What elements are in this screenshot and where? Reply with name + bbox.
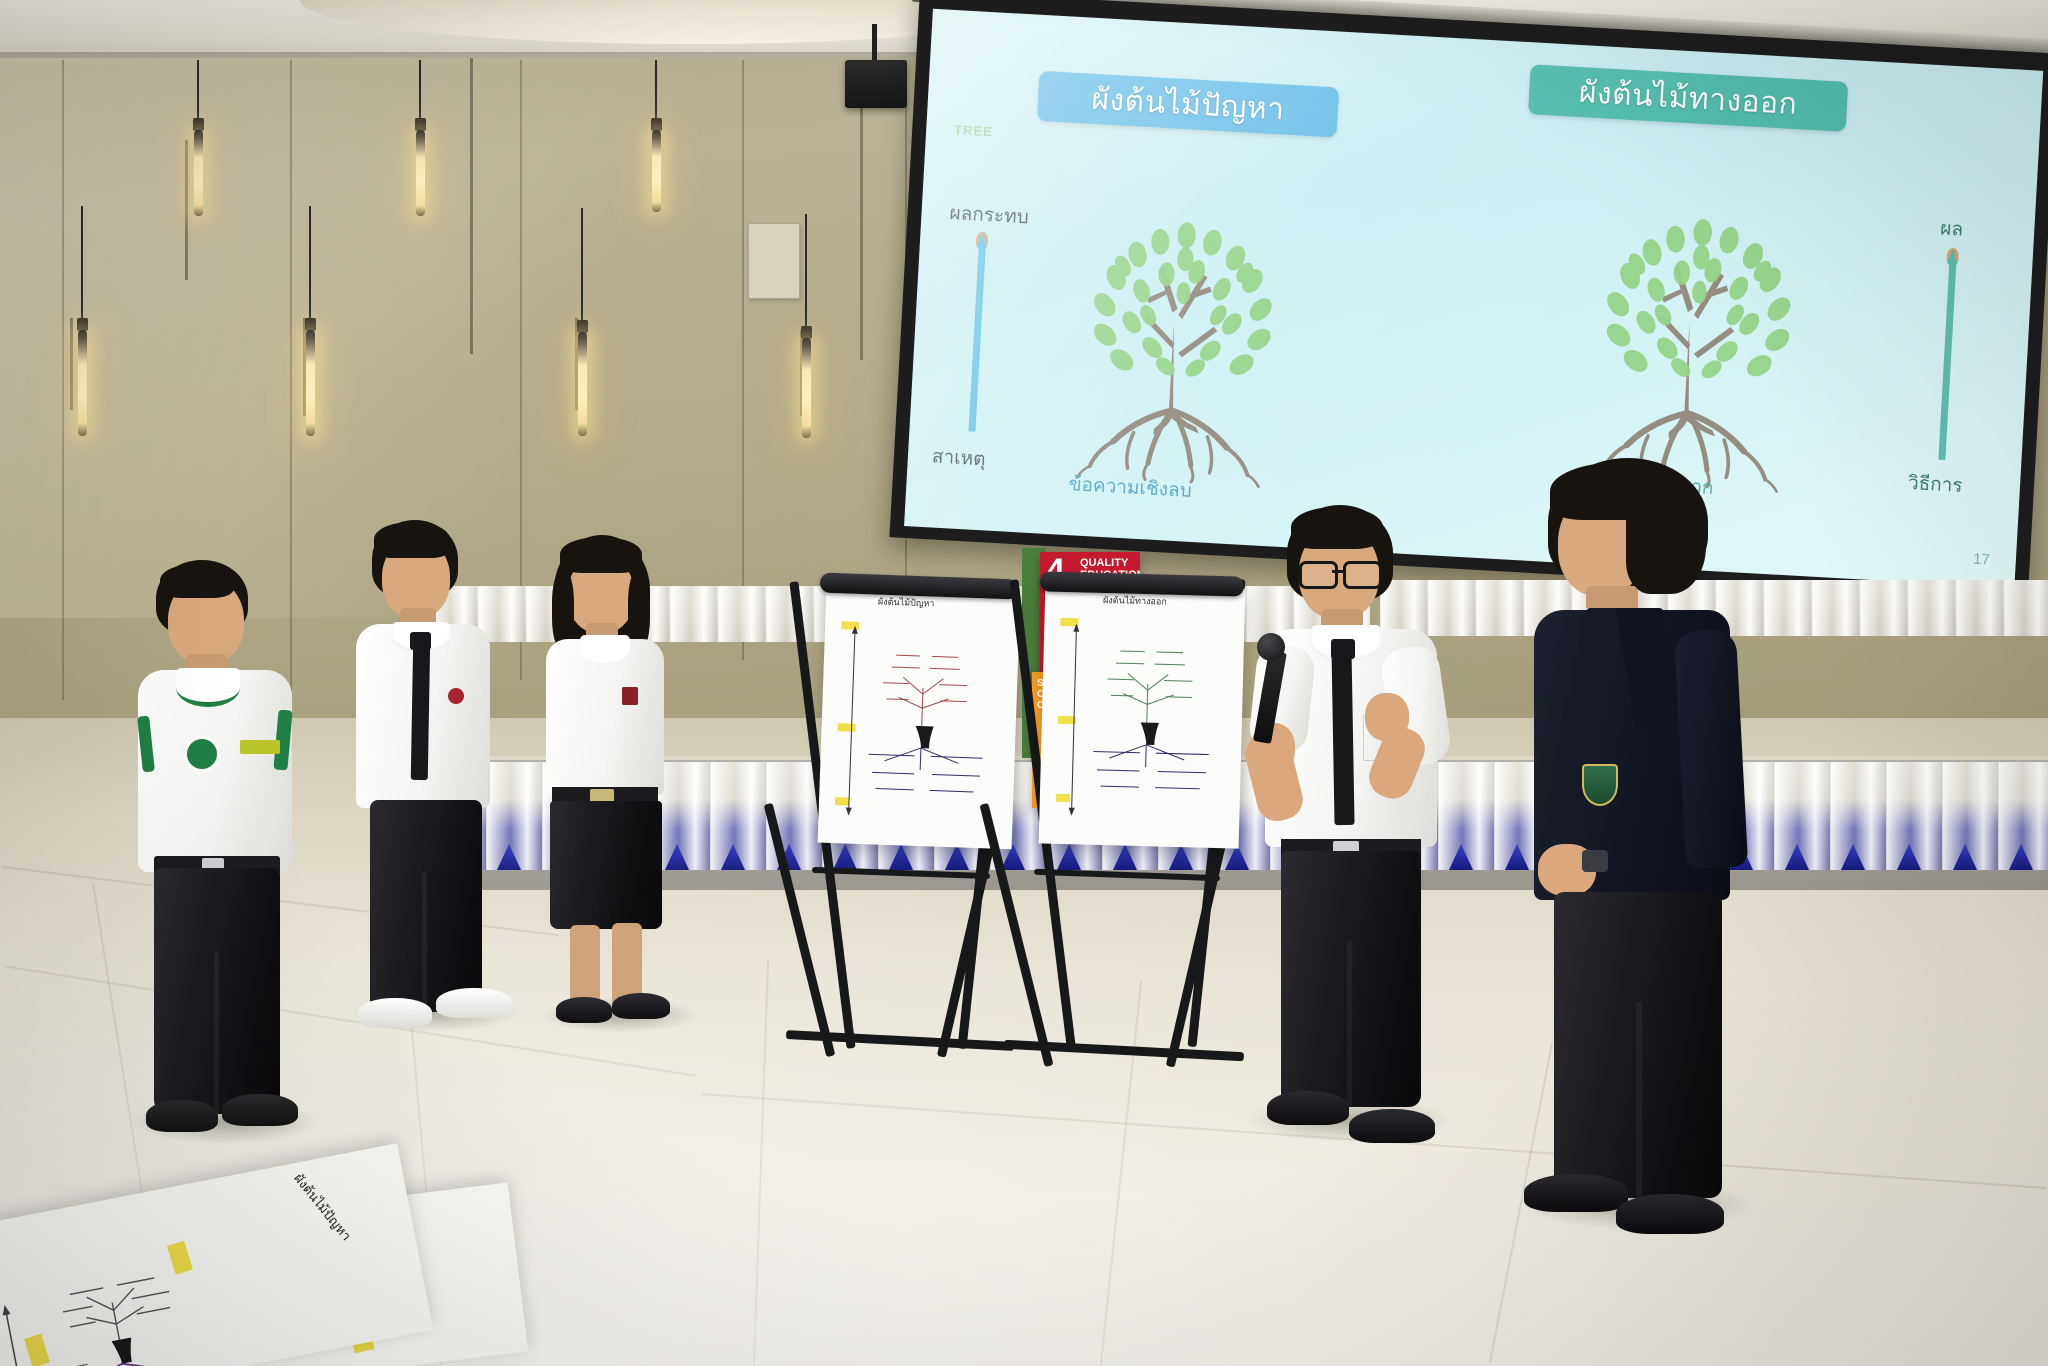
hair-back <box>1626 486 1706 594</box>
projector-screen: TREE ผังต้นไม้ปัญหา ผลกระทบ สาเหตุ <box>889 0 2048 613</box>
ceiling-speaker <box>845 60 907 108</box>
tie-knot <box>1331 639 1355 659</box>
wall-seam <box>290 60 292 700</box>
speaker-mount <box>872 24 877 64</box>
trouser-split <box>1347 941 1352 1107</box>
shirt-badge <box>448 688 464 704</box>
microphone-head <box>1257 633 1285 661</box>
polo-collar <box>176 668 240 707</box>
trouser-split <box>1636 1002 1642 1198</box>
method-axis-label: วิธีการ <box>1907 468 1963 501</box>
wall-groove <box>185 140 188 280</box>
shoe <box>1524 1174 1628 1212</box>
hand-right <box>1365 693 1409 741</box>
school-crest <box>1582 764 1618 806</box>
wall-seam <box>742 60 744 660</box>
screen-canvas: TREE ผังต้นไม้ปัญหา ผลกระทบ สาเหตุ <box>904 9 2043 588</box>
negative-statement-caption: ข้อความเชิงลบ <box>1068 469 1193 506</box>
photo-scene: TREE ผังต้นไม้ปัญหา ผลกระทบ สาเหตุ <box>0 0 2048 1366</box>
problem-tree-illustration <box>1027 145 1335 491</box>
shoe <box>612 993 670 1019</box>
hair-side-right <box>628 571 650 649</box>
wall-notice-card <box>748 223 800 299</box>
flipchart-right-title: ผังต้นไม้ทางออก <box>1103 593 1167 609</box>
shoe <box>556 997 612 1023</box>
shoe <box>1349 1109 1435 1143</box>
sneaker <box>436 988 512 1018</box>
slide-page-number: 17 <box>1973 551 1991 569</box>
slide-brand-mark: TREE <box>954 122 993 139</box>
wall-seam <box>62 60 64 700</box>
hair-fringe <box>374 522 450 558</box>
trouser-split <box>214 952 219 1114</box>
result-arrow-icon <box>1935 248 1960 460</box>
shoe <box>222 1094 298 1126</box>
hair-fringe <box>160 564 234 598</box>
shoe <box>1616 1194 1724 1234</box>
solution-tree-illustration <box>1538 140 1857 496</box>
blouse-badge <box>622 687 638 705</box>
skirt <box>550 801 662 929</box>
flipchart-right-sheet: ผังต้นไม้ทางออก <box>1039 583 1246 848</box>
flipchart-left-title: ผังต้นไม้ปัญหา <box>878 595 935 611</box>
blouse-collar <box>580 635 630 663</box>
shoe <box>146 1100 218 1132</box>
wall-groove <box>470 58 473 354</box>
hair-fringe <box>1291 507 1383 549</box>
foreground-sheet-1-title: ผังต้นไม้ปัญหา <box>289 1169 357 1246</box>
result-axis-label: ผล <box>1939 213 1963 244</box>
shoe <box>1267 1091 1349 1125</box>
tie-knot <box>410 632 431 650</box>
wall-groove <box>70 318 73 410</box>
hair-side-left <box>552 571 574 649</box>
necktie <box>1331 647 1354 825</box>
necktie <box>411 638 430 780</box>
flipchart-left-drawing <box>838 625 1015 831</box>
sneaker <box>358 998 432 1028</box>
polo-name-badge <box>240 740 280 754</box>
trouser-split <box>422 872 427 1014</box>
polo-chest-logo <box>184 736 220 772</box>
blazer-sleeve <box>1674 629 1748 870</box>
problem-tree-badge: ผังต้นไม้ปัญหา <box>1037 71 1339 138</box>
foreground-sheet-1-drawing <box>0 1254 268 1366</box>
impact-arrow-icon <box>965 232 989 432</box>
flipchart-right-drawing <box>1061 622 1238 831</box>
solution-tree-badge: ผังต้นไม้ทางออก <box>1528 64 1848 132</box>
glasses-icon <box>1299 561 1377 583</box>
wristwatch <box>1582 850 1608 872</box>
hair-fringe <box>560 537 642 573</box>
cause-axis-label: สาเหตุ <box>931 441 986 474</box>
impact-axis-label: ผลกระทบ <box>949 198 1030 232</box>
